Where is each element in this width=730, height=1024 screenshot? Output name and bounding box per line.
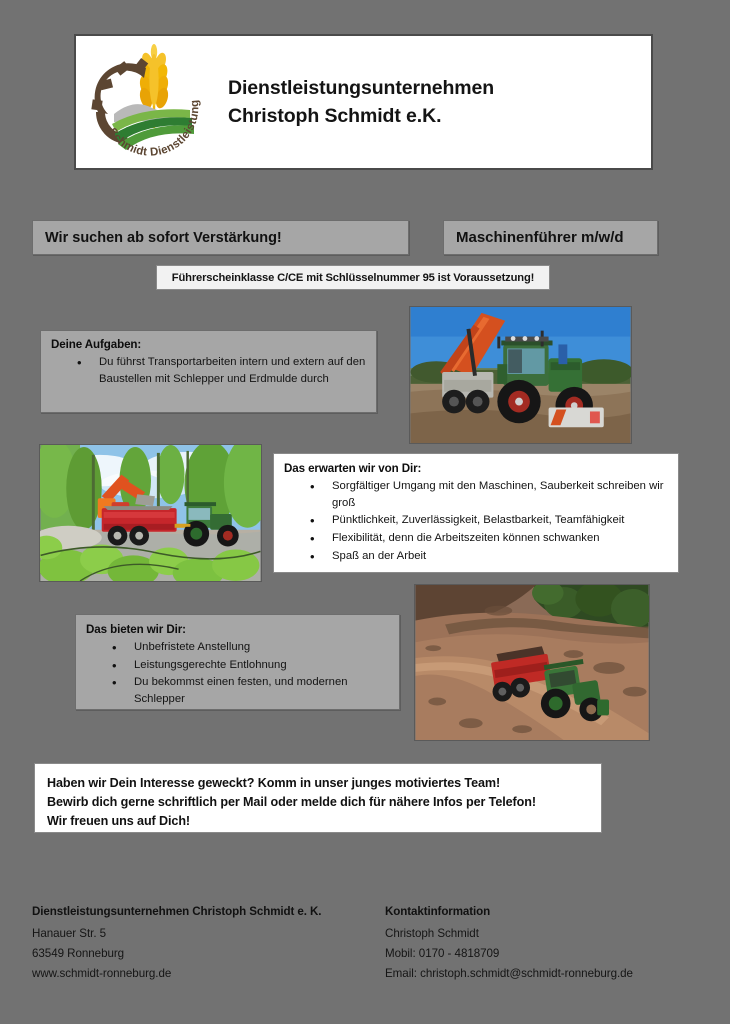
section-bieten: Das bieten wir Dir: Unbefristete Anstell… xyxy=(75,614,400,710)
photo-forest-loading-image xyxy=(40,445,261,581)
footer-company-heading: Dienstleistungsunternehmen Christoph Sch… xyxy=(32,905,385,918)
banner-job-title-label: Maschinenführer m/w/d xyxy=(444,229,624,246)
footer-contact-email[interactable]: Email: christoph.schmidt@schmidt-ronnebu… xyxy=(385,964,685,984)
license-requirement-label: Führerscheinklasse C/CE mit Schlüsselnum… xyxy=(172,272,534,284)
schmidt-dienstleistung-logo: Schmidt Dienstleistung xyxy=(86,40,206,164)
banner-hiring: Wir suchen ab sofort Verstärkung! xyxy=(32,220,409,255)
footer-contact-column: Kontaktinformation Christoph Schmidt Mob… xyxy=(385,905,685,984)
cta-line-1: Haben wir Dein Interesse geweckt? Komm i… xyxy=(47,774,589,793)
erwarten-heading: Das erwarten wir von Dir: xyxy=(284,462,668,475)
footer-contact-phone[interactable]: Mobil: 0170 - 4818709 xyxy=(385,944,685,964)
banner-hiring-label: Wir suchen ab sofort Verstärkung! xyxy=(33,230,282,246)
section-aufgaben: Deine Aufgaben: Du führst Transportarbei… xyxy=(40,330,377,413)
footer-contact-heading: Kontaktinformation xyxy=(385,905,685,918)
cta-line-3: Wir freuen uns auf Dich! xyxy=(47,812,589,831)
footer-company-column: Dienstleistungsunternehmen Christoph Sch… xyxy=(32,905,385,984)
photo-tractor-tipping-trailer-image xyxy=(410,307,631,443)
section-erwarten: Das erwarten wir von Dir: Sorgfältiger U… xyxy=(273,453,679,573)
logo-icon: Schmidt Dienstleistung xyxy=(86,40,206,164)
company-title-line1: Dienstleistungsunternehmen xyxy=(228,74,494,102)
company-title-line2: Christoph Schmidt e.K. xyxy=(228,102,494,130)
license-requirement-box: Führerscheinklasse C/CE mit Schlüsselnum… xyxy=(156,265,550,290)
footer-company-street: Hanauer Str. 5 xyxy=(32,924,385,944)
photo-tractor-tipping-trailer xyxy=(409,306,632,444)
list-item: Flexibilität, denn die Arbeitszeiten kön… xyxy=(284,530,668,547)
cta-box: Haben wir Dein Interesse geweckt? Komm i… xyxy=(34,763,602,833)
erwarten-list: Sorgfältiger Umgang mit den Maschinen, S… xyxy=(284,478,668,565)
photo-earthworks-site-image xyxy=(415,585,649,740)
company-title: Dienstleistungsunternehmen Christoph Sch… xyxy=(228,74,494,131)
list-item: Sorgfältiger Umgang mit den Maschinen, S… xyxy=(284,478,668,511)
list-item: Unbefristete Anstellung xyxy=(86,639,389,656)
aufgaben-heading: Deine Aufgaben: xyxy=(51,338,366,351)
footer-contact-name: Christoph Schmidt xyxy=(385,924,685,944)
company-header-banner: Schmidt Dienstleistung Dienstleistungsun… xyxy=(74,34,653,170)
photo-forest-loading xyxy=(39,444,262,582)
list-item: Du bekommst einen festen, und modernen S… xyxy=(86,674,389,707)
aufgaben-list: Du führst Transportarbeiten intern und e… xyxy=(51,354,366,387)
list-item: Pünktlichkeit, Zuverlässigkeit, Belastba… xyxy=(284,512,668,529)
footer-company-website[interactable]: www.schmidt-ronneburg.de xyxy=(32,964,385,984)
list-item: Leistungsgerechte Entlohnung xyxy=(86,657,389,674)
footer-company-city: 63549 Ronneburg xyxy=(32,944,385,964)
bieten-heading: Das bieten wir Dir: xyxy=(86,623,389,636)
cta-line-2: Bewirb dich gerne schriftlich per Mail o… xyxy=(47,793,589,812)
banner-job-title: Maschinenführer m/w/d xyxy=(443,220,658,255)
photo-earthworks-site xyxy=(414,584,650,741)
footer: Dienstleistungsunternehmen Christoph Sch… xyxy=(32,905,692,984)
bieten-list: Unbefristete Anstellung Leistungsgerecht… xyxy=(86,639,389,708)
list-item: Du führst Transportarbeiten intern und e… xyxy=(51,354,366,387)
list-item: Spaß an der Arbeit xyxy=(284,548,668,565)
